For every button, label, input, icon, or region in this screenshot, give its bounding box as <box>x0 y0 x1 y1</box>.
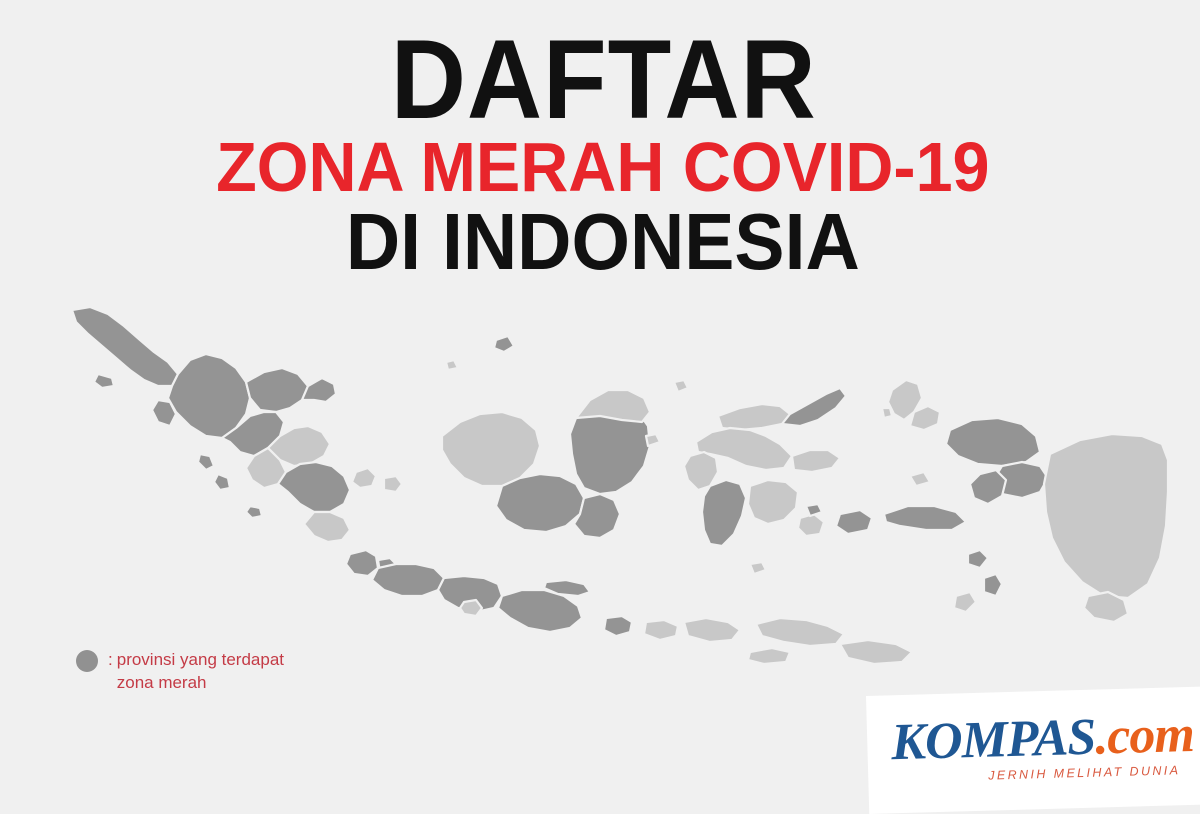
region-gorontalo <box>782 388 846 426</box>
island-ternate <box>882 408 892 418</box>
islet-misc-4 <box>910 472 930 486</box>
region-papua-barat-birdhead <box>946 418 1040 466</box>
infographic-canvas: DAFTAR ZONA MERAH COVID-19 DI INDONESIA <box>0 0 1200 800</box>
region-riau <box>246 368 308 412</box>
region-ntt-timor <box>840 640 912 664</box>
region-kalimantan-barat <box>442 412 540 486</box>
island-simeulue <box>94 374 114 388</box>
kompas-dotcom-text: .com <box>1094 706 1194 766</box>
region-sulawesi-tenggara-buton <box>798 514 824 536</box>
islet-misc-5 <box>750 562 766 574</box>
region-lampung <box>304 512 350 542</box>
region-sulawesi-selatan <box>702 480 746 546</box>
region-nusa-tenggara-timur-flores <box>756 618 844 646</box>
island-enggano <box>246 506 262 518</box>
region-papua <box>1044 434 1168 598</box>
islet-misc-2 <box>646 434 660 446</box>
region-nusa-tenggara-barat <box>644 620 678 640</box>
legend-colon: : <box>108 648 113 671</box>
legend-swatch-icon <box>76 650 98 672</box>
region-sumatera-selatan <box>278 462 350 512</box>
region-bangka-belitung-east <box>384 476 402 492</box>
region-kalimantan-utara <box>576 390 650 422</box>
island-kai <box>968 550 988 568</box>
region-kalimantan-tengah <box>496 474 584 532</box>
region-maluku-buru <box>836 510 872 534</box>
headline-line-daftar: DAFTAR <box>42 28 1158 131</box>
region-di-yogyakarta <box>460 600 482 616</box>
headline-line-di-indonesia: DI INDONESIA <box>36 205 1164 279</box>
islet-misc-1 <box>674 380 688 392</box>
region-ntt-sumba <box>748 648 790 664</box>
indonesia-map <box>50 296 1180 686</box>
kompas-logo: KOMPAS.com JERNIH MELIHAT DUNIA <box>891 709 1193 785</box>
island-mentawai-1 <box>198 454 214 470</box>
kompas-logo-panel: KOMPAS.com JERNIH MELIHAT DUNIA <box>866 686 1200 814</box>
headline-line-zona-merah: ZONA MERAH COVID-19 <box>30 135 1170 199</box>
region-jawa-barat <box>372 564 444 596</box>
island-aru <box>984 574 1002 596</box>
islet-natuna <box>494 336 514 352</box>
kompas-wordmark: KOMPAS.com <box>891 709 1192 769</box>
headline-block: DAFTAR ZONA MERAH COVID-19 DI INDONESIA <box>0 28 1200 279</box>
island-tanimbar <box>954 592 976 612</box>
region-sulawesi-tenggara <box>748 480 798 524</box>
legend-text-line-1: provinsi yang terdapat <box>117 650 284 669</box>
region-bali <box>604 616 632 636</box>
region-ntb-sumbawa <box>684 618 740 642</box>
legend: : provinsi yang terdapat zona merah <box>76 648 284 694</box>
region-kepulauan-riau <box>302 378 336 402</box>
region-banten <box>346 550 378 576</box>
region-sulawesi-tengah-east <box>792 450 840 472</box>
region-aceh <box>72 307 178 386</box>
region-jawa-timur <box>498 590 582 632</box>
legend-text: provinsi yang terdapat zona merah <box>117 648 284 694</box>
region-sulawesi-utara <box>718 404 790 430</box>
region-bangka-belitung <box>352 468 376 488</box>
region-papua-barat-south <box>970 470 1006 504</box>
islet-misc-3 <box>806 504 822 516</box>
kompas-brand-text: KOMPAS <box>891 709 1096 772</box>
island-mentawai-2 <box>214 474 230 490</box>
indonesia-map-svg <box>50 296 1180 686</box>
islet-anambas <box>446 360 458 370</box>
legend-text-line-2: zona merah <box>117 673 207 692</box>
region-maluku-seram <box>884 506 966 530</box>
